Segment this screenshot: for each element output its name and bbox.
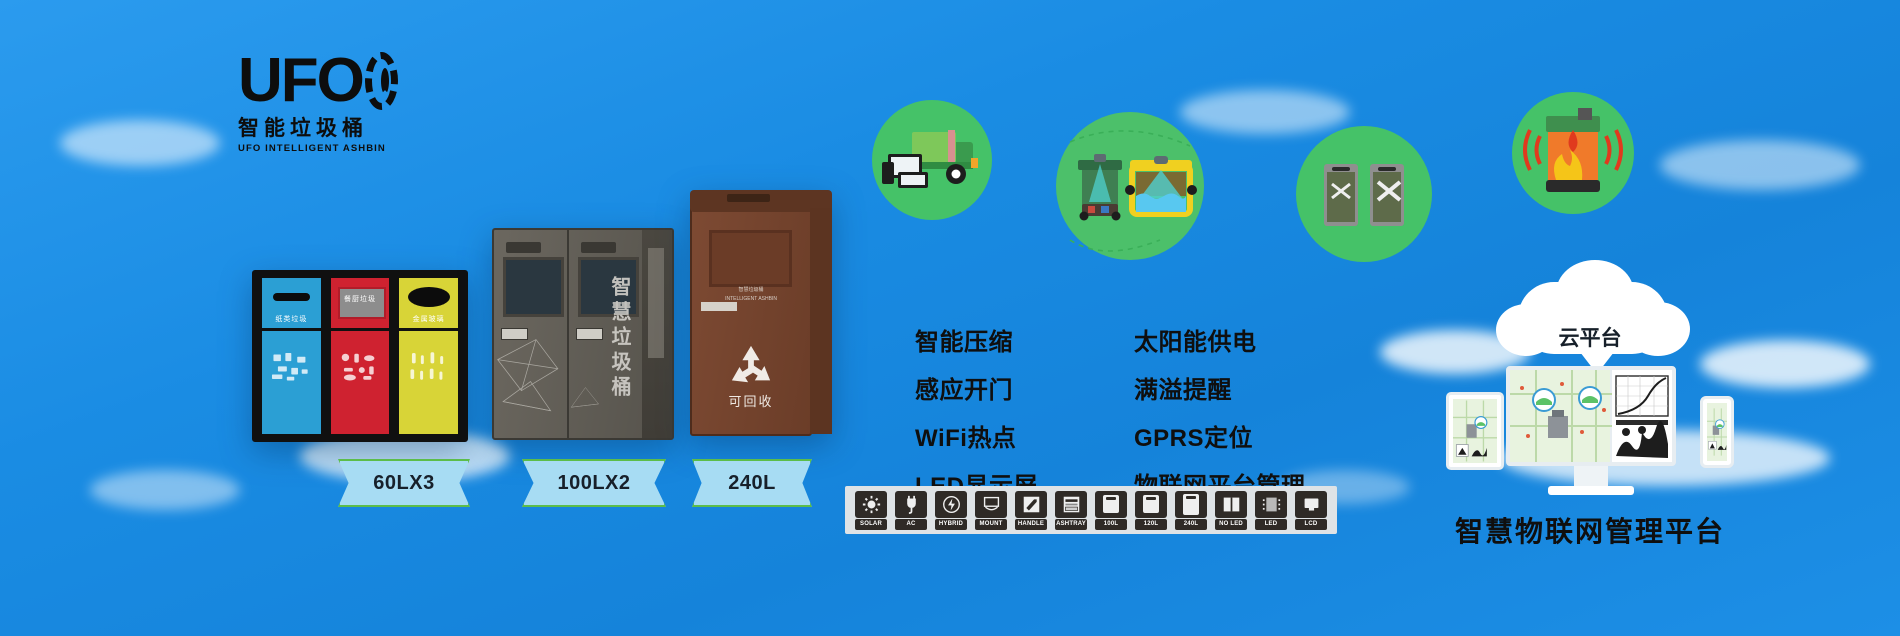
recycle-icon: [728, 344, 774, 388]
logo-name-en: UFO INTELLIGENT ASHBIN: [238, 143, 398, 154]
bin-card-reader-icon: [701, 302, 736, 311]
banner-stage: UFO 智能垃圾桶 UFO INTELLIGENT ASHBIN 纸类垃圾: [0, 0, 1900, 636]
cloud-platform-label: 云平台: [1440, 322, 1740, 352]
bin-side-panel: [642, 230, 672, 438]
collection-truck-circle: [872, 100, 992, 220]
feature-label: 满溢提醒: [1134, 370, 1232, 405]
bin-display-screen: [503, 257, 564, 317]
bin-compaction-icon: [1056, 112, 1204, 260]
badge-no-led: NO LED: [1215, 491, 1247, 530]
bin-compartment-top: 金属玻璃: [396, 275, 461, 331]
badge-label: NO LED: [1215, 519, 1247, 530]
bin-compartment-body: [328, 331, 393, 437]
badge-120l: 120L: [1135, 491, 1167, 530]
led-icon: [1255, 491, 1287, 518]
badge-solar: SOLAR: [855, 491, 887, 530]
bin-door-right: 智慧垃圾桶: [569, 230, 642, 438]
lcd-icon: [1295, 491, 1327, 518]
fire-alarm-circle: [1512, 92, 1634, 214]
ufo-ring-icon: [365, 52, 398, 110]
feature-label: GPRS定位: [1134, 418, 1253, 453]
bin-compartment: 金属玻璃: [396, 275, 461, 437]
brand-logo: UFO 智能垃圾桶 UFO INTELLIGENT ASHBIN: [238, 52, 398, 154]
monitor-stand: [1574, 466, 1608, 488]
capacity-badge-100lx2: 100LX2: [522, 459, 666, 507]
bin-120l-icon: [1135, 491, 1167, 518]
feature-item: WiFi热点: [875, 418, 1038, 453]
capacity-badge-240l: 240L: [692, 459, 812, 507]
bin-card-reader-icon: [576, 328, 603, 340]
bin-compartment-label: 纸类垃圾: [262, 314, 321, 324]
platform-title: 智慧物联网管理平台: [1400, 510, 1780, 550]
bin-compartment-label: 金属玻璃: [399, 314, 458, 324]
monitor-base: [1548, 486, 1634, 495]
monitor-icon: [875, 378, 899, 397]
lightning-icon: [935, 491, 967, 518]
feature-column-left: 智能压缩 感应开门 WiFi热点 LED显示屏: [875, 322, 1038, 501]
feature-item: 智能压缩: [875, 322, 1038, 357]
badge-led: LED: [1255, 491, 1287, 530]
feature-column-right: 太阳能供电 满溢提醒 GPRS定位 物联网平台管理: [1094, 322, 1306, 501]
bin-compartment: 纸类垃圾: [259, 275, 324, 437]
spec-badge-strip: SOLAR AC HYBRID MOUNT: [845, 486, 1337, 534]
bin-graphic-pattern: [494, 313, 567, 434]
badge-ac: AC: [895, 491, 927, 530]
cloud-decoration: [90, 470, 240, 510]
bin-slot-icon: [408, 287, 450, 307]
product-three-compartment-bin: 纸类垃圾 餐厨垃圾: [252, 270, 468, 442]
feature-item: 太阳能供电: [1094, 322, 1306, 357]
badge-label: LED: [1255, 519, 1287, 530]
badge-label: MOUNT: [975, 519, 1007, 530]
bin-240l-icon: [1175, 491, 1207, 518]
badge-100l: 100L: [1095, 491, 1127, 530]
bin-compartment-label: 餐厨垃圾: [331, 294, 390, 304]
bin-compartment-body: [396, 331, 461, 437]
badge-label: LCD: [1295, 519, 1327, 530]
mount-icon: [975, 491, 1007, 518]
bin-vent-icon: [506, 242, 541, 252]
badge-ashtray: ASHTRAY: [1055, 491, 1087, 530]
metal-glass-waste-illustration: [406, 350, 451, 383]
iot-platform-illustration: 云平台: [1440, 300, 1740, 530]
monitor-icon: [1094, 378, 1118, 397]
cloud-decoration: [1660, 140, 1860, 190]
badge-lcd: LCD: [1295, 491, 1327, 530]
logo-name-cn: 智能垃圾桶: [238, 112, 398, 142]
plug-icon: [895, 491, 927, 518]
monitor-icon: [1094, 330, 1118, 349]
twin-bin-circle: [1296, 126, 1432, 262]
sun-icon: [855, 491, 887, 518]
tablet-device: [1446, 392, 1504, 470]
feature-label: WiFi热点: [915, 418, 1016, 453]
bin-compartment-top: 餐厨垃圾: [328, 275, 393, 331]
monitor-icon: [1094, 426, 1118, 445]
badge-label: SOLAR: [855, 519, 887, 530]
feature-list: 智能压缩 感应开门 WiFi热点 LED显示屏 太阳能供电 满溢提醒: [875, 322, 1306, 501]
capacity-badge-60lx3: 60LX3: [338, 459, 470, 507]
bin-vent-icon: [581, 242, 616, 252]
product-brown-recycling-bin: 智慧垃圾桶INTELLIGENT ASHBIN 可回收: [690, 200, 812, 436]
garbage-truck-icon: [872, 100, 992, 220]
badge-label: ASHTRAY: [1055, 519, 1087, 530]
bin-graphic-pattern: [569, 363, 613, 430]
bin-compartment: 餐厨垃圾: [328, 275, 393, 437]
bin-slot-icon: [273, 293, 311, 301]
bin-recycle-label: 可回收: [692, 391, 810, 410]
bin-compartment-body: [259, 331, 324, 437]
feature-item: 满溢提醒: [1094, 370, 1306, 405]
bin-100l-icon: [1095, 491, 1127, 518]
bin-door-left: [494, 230, 569, 438]
twin-smart-bin-icon: [1296, 126, 1432, 262]
monitor-icon: [875, 426, 899, 445]
badge-label: 120L: [1135, 519, 1167, 530]
cloud-decoration: [60, 120, 220, 166]
desktop-monitor: [1506, 366, 1676, 466]
badge-label: 240L: [1175, 519, 1207, 530]
logo-wordmark: UFO: [238, 53, 363, 109]
badge-label: 100L: [1095, 519, 1127, 530]
product-smart-gray-bin: 智慧垃圾桶: [492, 228, 674, 440]
feature-label: 感应开门: [915, 370, 1013, 405]
smartphone-device: [1700, 396, 1734, 468]
badge-handle: HANDLE: [1015, 491, 1047, 530]
bin-side-panel: [810, 208, 832, 434]
feature-item: GPRS定位: [1094, 418, 1306, 453]
badge-hybrid: HYBRID: [935, 491, 967, 530]
logo-wordmark-row: UFO: [238, 52, 398, 110]
compaction-circle: [1056, 112, 1204, 260]
bin-vent-icon: [727, 194, 769, 202]
paper-waste-illustration: [269, 350, 314, 383]
feature-label: 智能压缩: [915, 322, 1013, 357]
badge-label: HYBRID: [935, 519, 967, 530]
ashtray-icon: [1055, 491, 1087, 518]
feature-label: 太阳能供电: [1134, 322, 1257, 357]
feature-item: 感应开门: [875, 370, 1038, 405]
fire-alarm-icon: [1512, 92, 1634, 214]
monitor-icon: [875, 330, 899, 349]
badge-240l: 240L: [1175, 491, 1207, 530]
badge-label: HANDLE: [1015, 519, 1047, 530]
no-led-icon: [1215, 491, 1247, 518]
bin-compartment-top: 纸类垃圾: [259, 275, 324, 331]
badge-mount: MOUNT: [975, 491, 1007, 530]
badge-label: AC: [895, 519, 927, 530]
handle-icon: [1015, 491, 1047, 518]
kitchen-waste-illustration: [338, 350, 383, 383]
bin-display-panel: [709, 230, 793, 287]
